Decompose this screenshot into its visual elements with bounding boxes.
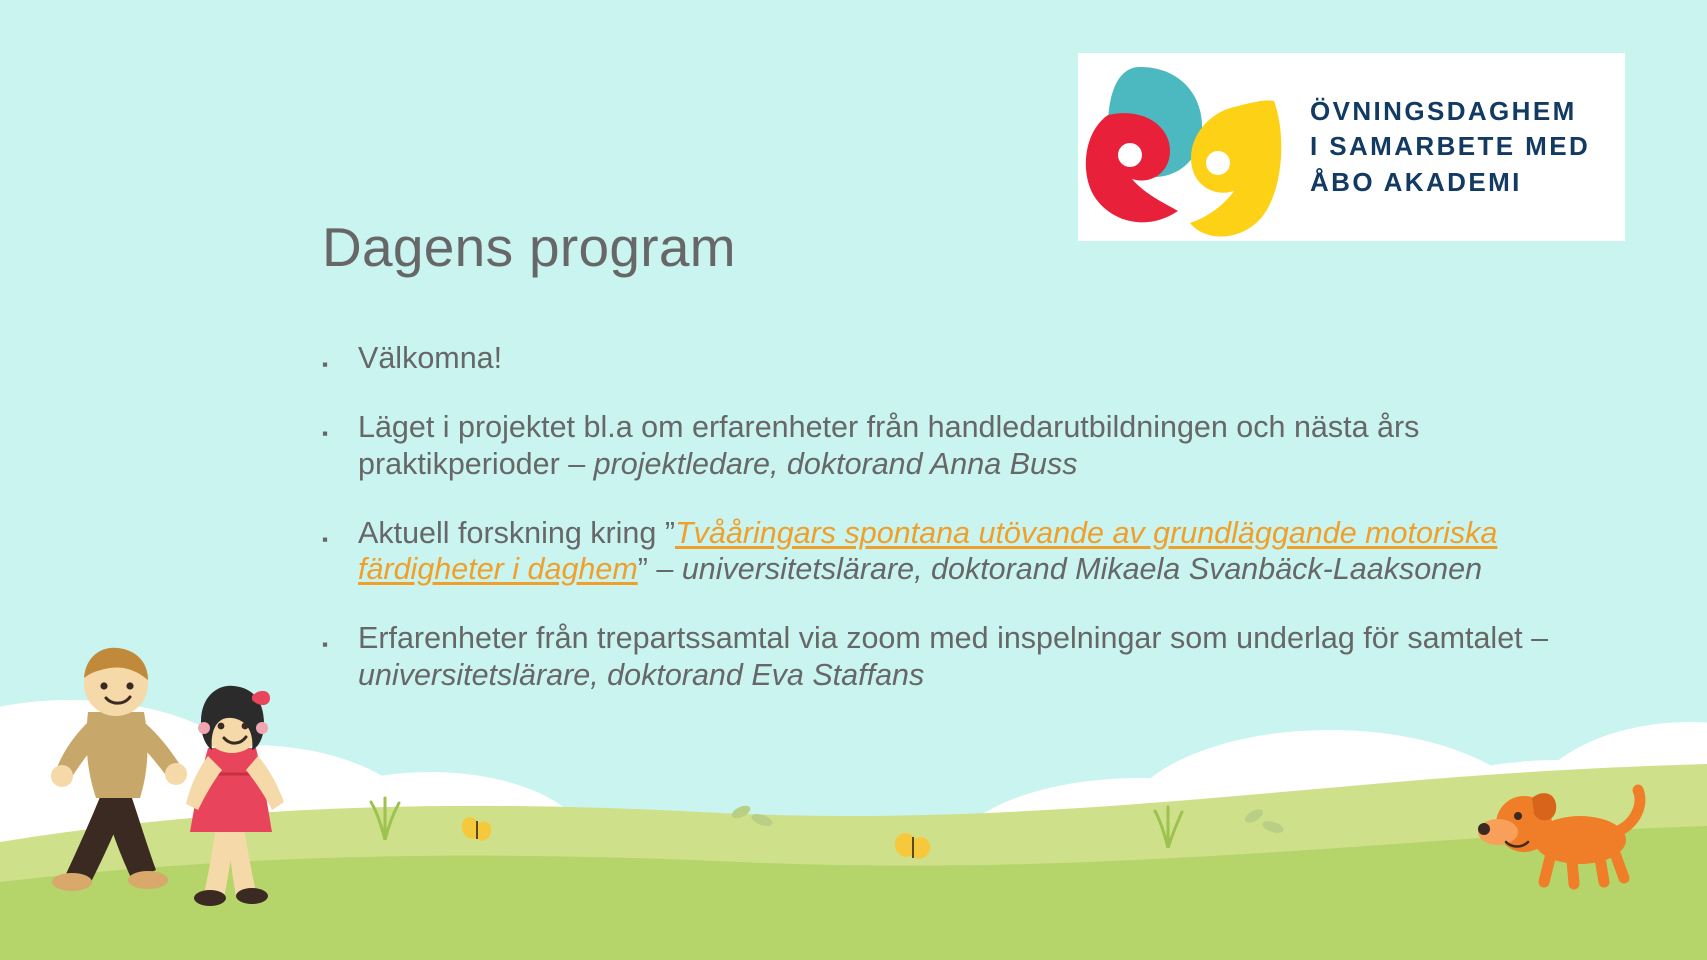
presenter-name-text: universitetslärare, doktorand Mikaela Sv… (682, 552, 1482, 586)
list-item-text: Välkomna! (358, 340, 502, 376)
leaf-icon (730, 800, 776, 830)
slide-canvas: ÖVNINGSDAGHEM I SAMARBETE MED ÅBO AKADEM… (0, 0, 1707, 960)
bullet-marker-icon: ▪ (322, 515, 358, 548)
list-item: ▪Erfarenheter från trepartssamtal via zo… (322, 620, 1602, 693)
leaf-icon (1242, 806, 1288, 836)
list-item-text: Läget i projektet bl.a om erfarenheter f… (358, 409, 1602, 482)
butterfly-icon (460, 815, 494, 845)
list-item: ▪Aktuell forskning kring ”Tvååringars sp… (322, 515, 1602, 588)
page-title: Dagens program (322, 215, 736, 279)
list-item: ▪Läget i projektet bl.a om erfarenheter … (322, 409, 1602, 482)
logo-text-line-3: ÅBO AKADEMI (1310, 165, 1590, 200)
list-item-text-segment: Erfarenheter från trepartssamtal via zoo… (358, 621, 1548, 655)
list-item-text-segment: Aktuell forskning kring ” (358, 516, 675, 550)
list-item-text-segment: Välkomna! (358, 341, 502, 375)
logo-text-block: ÖVNINGSDAGHEM I SAMARBETE MED ÅBO AKADEM… (1310, 94, 1590, 200)
grass-tuft-icon (1148, 802, 1188, 848)
logo-text-line-1: ÖVNINGSDAGHEM (1310, 94, 1590, 129)
list-item-text: Aktuell forskning kring ”Tvååringars spo… (358, 515, 1602, 588)
presenter-name-text: universitetslärare, doktorand Eva Staffa… (358, 658, 924, 692)
daghem-logo-mark-icon (1078, 53, 1310, 241)
logo-text-line-2: I SAMARBETE MED (1310, 129, 1590, 164)
agenda-list: ▪Välkomna!▪Läget i projektet bl.a om erf… (322, 340, 1602, 726)
logo-block: ÖVNINGSDAGHEM I SAMARBETE MED ÅBO AKADEM… (1078, 53, 1625, 241)
list-item-text-segment: ” – (638, 552, 682, 586)
bullet-marker-icon: ▪ (322, 340, 358, 373)
presenter-name-text: projektledare, doktorand Anna Buss (594, 447, 1078, 481)
bullet-marker-icon: ▪ (322, 409, 358, 442)
girl-figure-illustration (168, 682, 298, 912)
grass-tuft-icon (365, 794, 405, 840)
list-item: ▪Välkomna! (322, 340, 1602, 376)
butterfly-icon (893, 830, 933, 864)
dog-figure-illustration (1478, 780, 1658, 890)
bullet-marker-icon: ▪ (322, 620, 358, 653)
list-item-text: Erfarenheter från trepartssamtal via zoo… (358, 620, 1602, 693)
